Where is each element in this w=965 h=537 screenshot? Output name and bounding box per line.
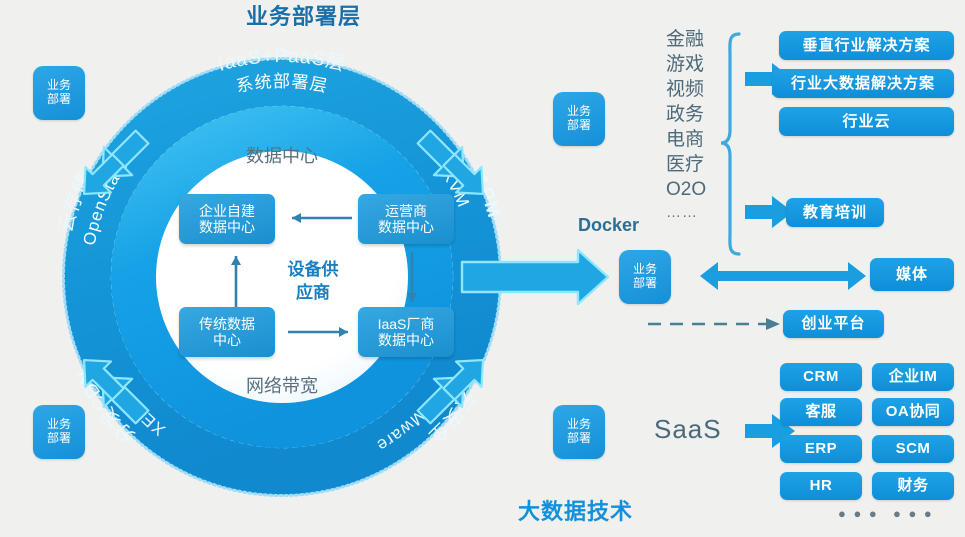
startup-label: 创业平台 [801, 315, 865, 332]
deploy-label-line2: 部署 [47, 93, 71, 107]
deploy-box-bottom-right[interactable]: 业务 部署 [553, 405, 605, 459]
industry-item-2: 视频 [666, 78, 718, 103]
arrow-media-bidirectional [700, 262, 866, 290]
box-label-line1: 传统数据 [199, 316, 255, 332]
box-label-line1: 运营商 [385, 203, 427, 219]
saas-label: 财务 [897, 477, 928, 494]
dashed-arrow-startup [648, 318, 780, 330]
saas-box-crm[interactable]: CRM [780, 363, 862, 391]
saas-box-hr[interactable]: HR [780, 472, 862, 500]
box-label-line2: 中心 [213, 332, 241, 348]
saas-label: 企业IM [889, 368, 938, 385]
industry-bracket [721, 34, 739, 254]
solution-label: 行业云 [842, 113, 890, 130]
core-label-bandwidth: 网络带宽 [246, 376, 318, 396]
industry-item-5: 医疗 [666, 153, 718, 178]
saas-label: SCM [896, 440, 931, 457]
saas-box-customer-service[interactable]: 客服 [780, 398, 862, 426]
deploy-label-line1: 业务 [567, 418, 591, 432]
industry-ellipsis: …… [666, 203, 718, 228]
diagram-canvas: IaaS+PaaS层 系统部署层 APM 云存储 分发CDN 云安全 KVM O… [0, 0, 965, 537]
media-box[interactable]: 媒体 [870, 258, 954, 291]
page-title-bottom: 大数据技术 [518, 494, 718, 526]
footer-dots-left: ● ● ● [838, 506, 879, 521]
box-label-line2: 数据中心 [378, 219, 434, 235]
saas-label: HR [810, 477, 833, 494]
core-label-datacenter: 数据中心 [246, 146, 318, 166]
saas-box-enterprise-im[interactable]: 企业IM [872, 363, 954, 391]
saas-label: OA协同 [886, 403, 941, 420]
industry-list: 金融 游戏 视频 政务 电商 医疗 O2O …… [666, 28, 718, 228]
solution-box-industry-bigdata[interactable]: 行业大数据解决方案 [772, 69, 954, 98]
saas-label: ERP [805, 440, 837, 457]
deploy-box-top-left[interactable]: 业务 部署 [33, 66, 85, 120]
deploy-label-line1: 业务 [633, 263, 657, 277]
solution-box-vertical-industry[interactable]: 垂直行业解决方案 [779, 31, 954, 60]
deploy-label-line1: 业务 [567, 105, 591, 119]
footer-dots-right: ● ● ● [893, 506, 934, 521]
core-box-traditional-dc[interactable]: 传统数据 中心 [179, 307, 275, 357]
core-box-iaas-vendor-dc[interactable]: IaaS厂商 数据中心 [358, 307, 454, 357]
core-center-line1: 设备供 [288, 259, 339, 279]
industry-item-3: 政务 [666, 103, 718, 128]
core-disc [156, 151, 408, 403]
solution-label: 教育培训 [803, 204, 867, 221]
deploy-label-line1: 业务 [47, 418, 71, 432]
deploy-box-bottom-left[interactable]: 业务 部署 [33, 405, 85, 459]
box-label-line1: IaaS厂商 [378, 316, 435, 332]
docker-label: Docker [578, 215, 639, 236]
media-label: 媒体 [896, 266, 928, 283]
industry-item-1: 游戏 [666, 53, 718, 78]
saas-box-erp[interactable]: ERP [780, 435, 862, 463]
saas-label: SaaS [654, 414, 722, 445]
saas-label: CRM [803, 368, 839, 385]
industry-item-6: O2O [666, 178, 718, 203]
deploy-label-line2: 部署 [567, 432, 591, 446]
box-label-line2: 数据中心 [199, 219, 255, 235]
solution-label: 垂直行业解决方案 [802, 37, 930, 54]
saas-box-finance[interactable]: 财务 [872, 472, 954, 500]
solution-label: 行业大数据解决方案 [791, 75, 935, 92]
industry-item-0: 金融 [666, 28, 718, 53]
deploy-label-line2: 部署 [633, 277, 657, 291]
industry-item-4: 电商 [666, 128, 718, 153]
saas-box-scm[interactable]: SCM [872, 435, 954, 463]
solution-box-education-training[interactable]: 教育培训 [786, 198, 884, 227]
deploy-box-right-center[interactable]: 业务 部署 [619, 250, 671, 304]
solution-box-industry-cloud[interactable]: 行业云 [779, 107, 954, 136]
deploy-label-line1: 业务 [47, 79, 71, 93]
core-box-enterprise-dc[interactable]: 企业自建 数据中心 [179, 194, 275, 244]
core-box-operator-dc[interactable]: 运营商 数据中心 [358, 194, 454, 244]
core-center-line2: 应商 [296, 282, 330, 302]
saas-box-oa-collaboration[interactable]: OA协同 [872, 398, 954, 426]
box-label-line2: 数据中心 [378, 332, 434, 348]
startup-platform-box[interactable]: 创业平台 [783, 310, 884, 338]
deploy-label-line2: 部署 [47, 432, 71, 446]
saas-label: 客服 [805, 403, 836, 420]
page-title-top: 业务部署层 [246, 0, 446, 31]
deploy-box-top-right[interactable]: 业务 部署 [553, 92, 605, 146]
deploy-label-line2: 部署 [567, 119, 591, 133]
box-label-line1: 企业自建 [199, 203, 255, 219]
